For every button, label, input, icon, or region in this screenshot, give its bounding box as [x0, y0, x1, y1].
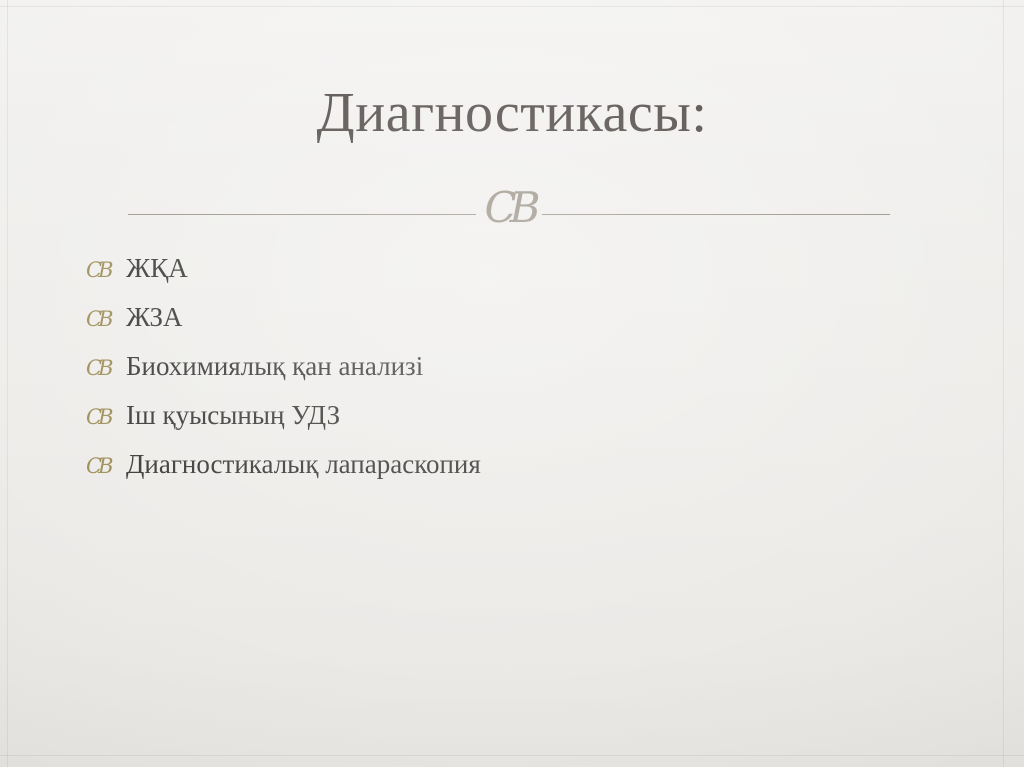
diagnostics-bullet-list: CB ЖҚА CB ЖЗА CB Биохимиялық қан анализі…: [86, 255, 946, 500]
slide-frame-bottom-rule: [0, 755, 1024, 756]
slide-title: Диагностикасы:: [0, 84, 1024, 143]
slide-title-block: Диагностикасы:: [0, 84, 1024, 143]
cb-flourish-bullet-icon: CB: [86, 309, 126, 330]
slide-frame-top-rule: [0, 6, 1024, 7]
list-item: CB ЖЗА: [86, 304, 946, 353]
list-item: CB ЖҚА: [86, 255, 946, 304]
cb-flourish-bullet-icon: CB: [86, 456, 126, 477]
divider-rule-left: [128, 214, 476, 215]
cb-flourish-bullet-icon: CB: [86, 260, 126, 281]
list-item-label: ЖҚА: [126, 255, 946, 282]
list-item-label: Іш қуысының УДЗ: [126, 402, 946, 429]
presentation-slide: Диагностикасы: CB CB ЖҚА CB ЖЗА CB Биохи…: [0, 0, 1024, 767]
list-item-label: Диагностикалық лапараскопия: [126, 451, 946, 478]
title-divider: CB: [128, 186, 890, 234]
cb-flourish-bullet-icon: CB: [86, 407, 126, 428]
list-item: CB Диагностикалық лапараскопия: [86, 451, 946, 500]
divider-rule-right: [542, 214, 890, 215]
list-item: CB Биохимиялық қан анализі: [86, 353, 946, 402]
list-item-label: ЖЗА: [126, 304, 946, 331]
list-item: CB Іш қуысының УДЗ: [86, 402, 946, 451]
cb-flourish-ornament-icon: CB: [485, 184, 534, 232]
list-item-label: Биохимиялық қан анализі: [126, 353, 946, 380]
cb-flourish-bullet-icon: CB: [86, 358, 126, 379]
